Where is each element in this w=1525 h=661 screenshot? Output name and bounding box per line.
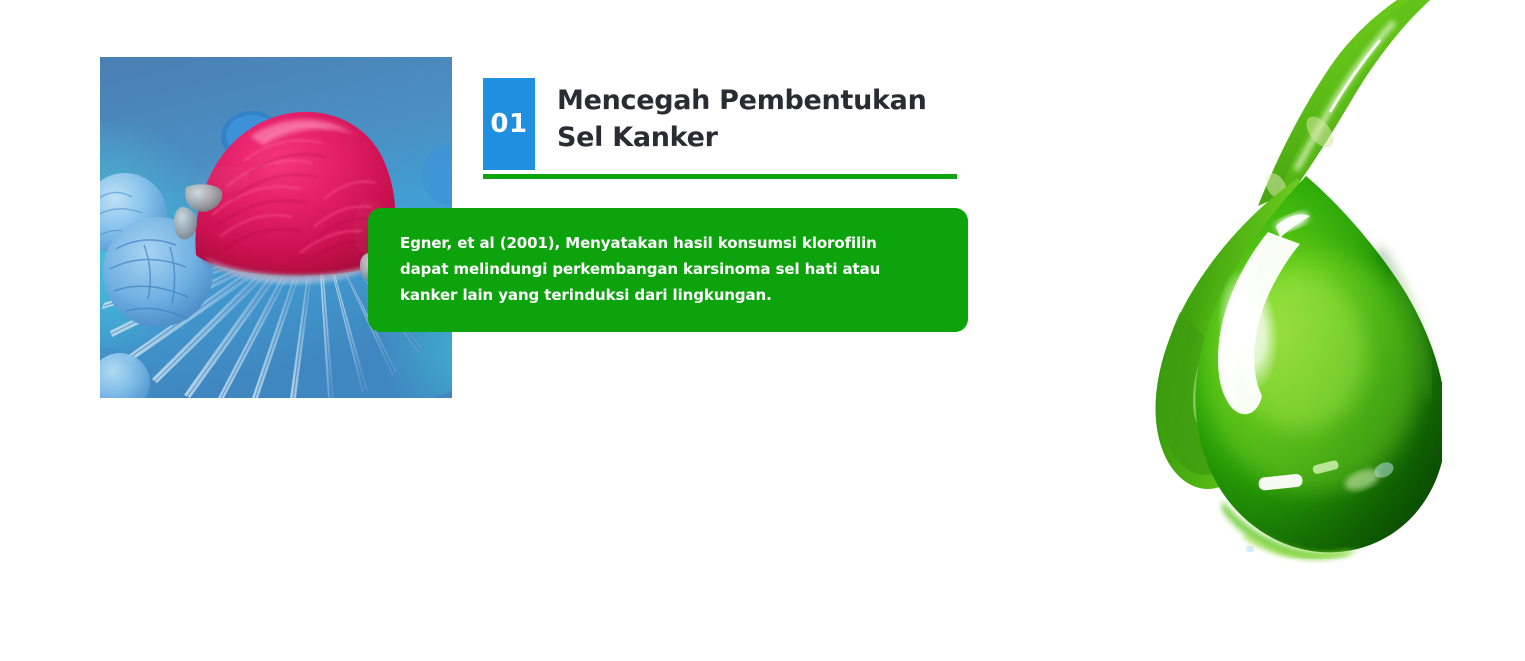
step-number-text: 01 [490,109,527,139]
citation-line1: Egner, et al (2001), Menyatakan hasil ko… [400,230,938,256]
droplet-illustration [1062,0,1442,600]
slide-root: 01 Mencegah Pembentukan Sel Kanker Egner… [0,0,1525,661]
title-underline-divider [483,174,957,179]
chlorophyll-droplet-image [1062,0,1442,600]
page-title: Mencegah Pembentukan Sel Kanker [557,82,977,156]
citation-line2: dapat melindungi perkembangan karsinoma … [400,256,938,282]
page-title-line1: Mencegah Pembentukan [557,85,927,116]
citation-callout-box: Egner, et al (2001), Menyatakan hasil ko… [368,208,968,332]
step-number-badge: 01 [483,78,535,170]
page-title-line2: Sel Kanker [557,119,977,156]
citation-line3: kanker lain yang terinduksi dari lingkun… [400,282,938,308]
